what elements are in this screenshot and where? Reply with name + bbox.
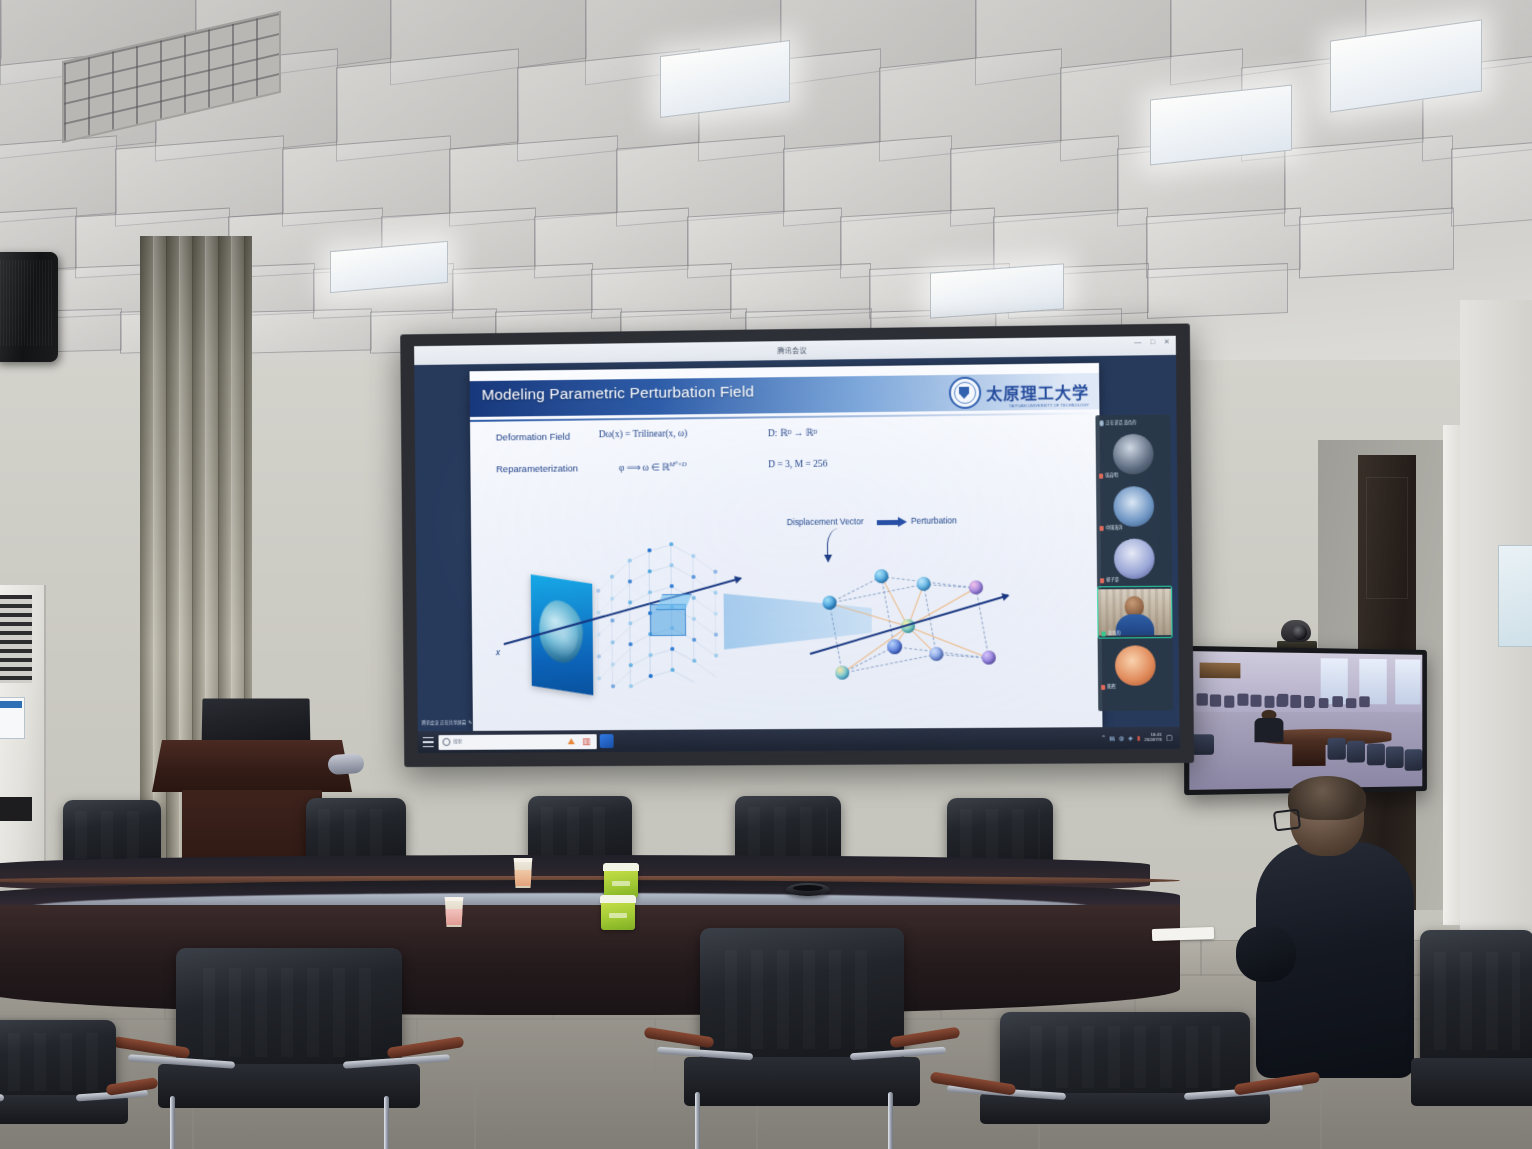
- lattice-edge: [629, 666, 630, 684]
- voxel-vertex-sphere: [822, 596, 836, 610]
- clock-date: 2024/7/3: [1144, 738, 1161, 743]
- wall-poster: [1498, 545, 1532, 647]
- chair-back: [1000, 1012, 1251, 1099]
- lattice-edge: [611, 643, 612, 662]
- lattice-edge: [692, 557, 693, 575]
- feed-audience-seat: [1251, 694, 1261, 706]
- secondary-monitor[interactable]: [1184, 646, 1427, 795]
- lattice-edge: [714, 615, 715, 633]
- feed-table-base: [1293, 742, 1326, 767]
- voxel-vertex-sphere: [929, 647, 943, 661]
- feed-audience-seat: [1224, 696, 1235, 708]
- window-controls[interactable]: — □ ✕: [1134, 339, 1170, 347]
- chair-leg: [384, 1096, 389, 1149]
- feed-chair: [1386, 746, 1404, 767]
- meeting-app-icon[interactable]: [600, 734, 614, 748]
- feed-audience-seat: [1290, 697, 1301, 708]
- screen-share-toolbar[interactable]: 腾讯会议 正在共享屏幕 ✎: [422, 720, 473, 726]
- search-icon: [442, 738, 450, 746]
- tissue-sheet: [600, 895, 636, 903]
- lattice-edge: [613, 648, 631, 665]
- legend-perturbation: Perturbation: [911, 515, 957, 525]
- lattice-edge: [597, 636, 598, 655]
- camera-body: [1281, 620, 1311, 642]
- search-input[interactable]: 搜索 ⛰ ▥: [438, 734, 596, 750]
- lattice-edge: [597, 614, 598, 633]
- voxel-vertex-sphere: [969, 580, 983, 594]
- chair-leg: [170, 1096, 175, 1149]
- video-person-body: [1116, 614, 1155, 636]
- feed-person-body: [1255, 718, 1283, 743]
- feed-audience-seat: [1237, 693, 1248, 705]
- display-screen: 腾讯会议 — □ ✕ Modeling Parametric Perturbat…: [414, 336, 1180, 753]
- chair-back: [176, 948, 402, 1072]
- conference-chair[interactable]: [668, 928, 936, 1149]
- axis-label-x: x: [496, 647, 500, 657]
- air-conditioner: [0, 585, 46, 885]
- lattice-edge: [628, 562, 629, 580]
- lattice-edge: [670, 566, 671, 584]
- maximize-button[interactable]: □: [1150, 339, 1154, 346]
- paper-cup: [512, 858, 534, 888]
- shared-slide: Modeling Parametric Perturbation Field 太…: [470, 363, 1103, 731]
- tissue-label: [609, 913, 627, 918]
- battery-icon[interactable]: ▮: [1137, 734, 1140, 741]
- chart-icon[interactable]: ▥: [582, 736, 591, 747]
- chair-seat: [684, 1057, 920, 1106]
- weather-icon[interactable]: ⛰: [567, 736, 575, 747]
- legend-displacement-vector: Displacement Vector: [787, 516, 864, 527]
- attendee-arm: [1236, 926, 1296, 982]
- lattice-edge: [611, 600, 612, 619]
- participant-avatar: [1114, 539, 1155, 580]
- tissue-label: [612, 881, 630, 886]
- lattice-edge: [612, 604, 630, 621]
- feed-audience-seat: [1276, 696, 1287, 707]
- participant-name: 蓝色的: [1108, 630, 1121, 636]
- taskbar-clock[interactable]: 16:41 2024/7/3: [1144, 733, 1161, 742]
- chevron-up-icon[interactable]: ^: [1102, 735, 1105, 741]
- cup-band: [512, 870, 534, 886]
- paper-cup: [443, 897, 465, 927]
- conference-room-photo: 腾讯会议 — □ ✕ Modeling Parametric Perturbat…: [0, 0, 1532, 1149]
- cube-edge: [842, 646, 894, 673]
- meeting-window-title: 腾讯会议: [777, 345, 807, 355]
- perturbation-field-diagram: Displacement Vector Perturbation x: [489, 512, 1091, 717]
- protein-plane: [531, 574, 594, 695]
- muted-mic-icon: [1100, 525, 1104, 530]
- tissue-sheet: [603, 863, 639, 871]
- lattice-edge: [648, 551, 649, 569]
- zoomed-voxel-cube: [811, 553, 1013, 705]
- glasses-icon: [1273, 808, 1301, 831]
- lattice-edge: [649, 565, 671, 572]
- university-name-cn: 太原理工大学: [986, 379, 1089, 404]
- voxel-vertex-sphere: [917, 577, 931, 591]
- attendee-hair: [1288, 776, 1366, 820]
- network-icon[interactable]: ▤: [1109, 735, 1115, 742]
- lattice-edge: [597, 592, 598, 611]
- volume-icon[interactable]: ◍: [1119, 735, 1124, 742]
- chair-seat: [980, 1093, 1270, 1124]
- lattice-edge: [630, 571, 650, 582]
- cube-edge: [829, 584, 923, 604]
- tissue-box: [601, 900, 635, 930]
- university-crest-icon: [949, 377, 982, 410]
- ashtray: [786, 883, 830, 896]
- feed-chair: [1405, 749, 1423, 770]
- feed-audience-seat: [1210, 694, 1221, 706]
- lattice-edge: [612, 560, 630, 577]
- lattice-edge: [672, 670, 694, 683]
- active-speaker-header: 正在讲话 蓝色的: [1095, 417, 1170, 429]
- participant-tiles[interactable]: 张启明中国海洋郭子豪蓝色的陈辉: [1096, 429, 1174, 691]
- lattice-edge: [714, 573, 715, 591]
- lattice-edge: [629, 645, 630, 663]
- participant-name-badge: 中国海洋: [1100, 525, 1123, 531]
- podium-top: [152, 740, 352, 792]
- muted-mic-icon: [1099, 473, 1103, 478]
- ceiling-tile: [1147, 263, 1288, 319]
- lattice-edge: [671, 650, 672, 668]
- ceiling-tile: [245, 308, 372, 353]
- muted-mic-icon: [1100, 578, 1104, 583]
- chair-back: [700, 928, 904, 1066]
- participant-tile[interactable]: 郭子豪: [1097, 533, 1172, 584]
- pen-icon[interactable]: ✎: [468, 720, 472, 726]
- lattice-edge: [671, 544, 693, 557]
- feed-window: [1396, 660, 1420, 705]
- close-button[interactable]: ✕: [1164, 339, 1170, 346]
- feed-audience-seat: [1304, 696, 1315, 707]
- ime-icon[interactable]: ◈: [1128, 735, 1133, 742]
- participant-name-badge: 陈辉: [1101, 684, 1116, 690]
- participant-name: 张启明: [1105, 472, 1118, 478]
- deformation-field-mapping: D: ℝᴰ → ℝᴰ: [768, 429, 817, 440]
- participant-sidebar[interactable]: 正在讲话 蓝色的 张启明中国海洋郭子豪蓝色的陈辉: [1095, 414, 1173, 711]
- lattice-edge: [670, 545, 671, 563]
- lattice-edge: [693, 641, 694, 659]
- ac-display-panel: [0, 797, 32, 821]
- main-display[interactable]: 腾讯会议 — □ ✕ Modeling Parametric Perturbat…: [400, 323, 1194, 767]
- lattice-edge: [649, 656, 650, 674]
- participant-name-badge: 蓝色的: [1102, 630, 1121, 636]
- legend-arrow-icon: [877, 520, 899, 525]
- lattice-edge: [693, 577, 716, 594]
- camera-lens-icon: [1292, 625, 1307, 640]
- lattice-edge: [611, 665, 612, 684]
- muted-mic-icon: [1101, 684, 1105, 689]
- slide-title: Modeling Parametric Perturbation Field: [482, 384, 755, 405]
- conference-chair[interactable]: [1402, 930, 1532, 1149]
- feed-audience-seat: [1332, 696, 1343, 707]
- feed-audience-seat: [1346, 698, 1356, 709]
- participant-avatar: [1113, 434, 1154, 475]
- lattice-edge: [611, 578, 612, 597]
- chair-seat: [1411, 1058, 1532, 1106]
- chair-back: [63, 800, 160, 867]
- tissue-box: [604, 868, 638, 898]
- feed-chair: [1192, 734, 1214, 755]
- podium-microphone-icon: [327, 753, 364, 775]
- lattice-edge: [629, 603, 630, 621]
- lattice-edge: [693, 619, 716, 636]
- lattice-edge: [693, 556, 716, 573]
- participant-name-badge: 郭子豪: [1100, 577, 1119, 583]
- participant-tile[interactable]: 蓝色的: [1097, 586, 1172, 639]
- participant-name: 中国海洋: [1106, 525, 1123, 531]
- reparameterization-formula: φ ⟹ ω ∈ ℝ: [619, 463, 669, 474]
- lattice-edge: [650, 649, 672, 656]
- chair-back: [1420, 930, 1532, 1066]
- ac-label: [0, 697, 25, 739]
- active-mic-icon: [1102, 631, 1106, 636]
- lattice-edge: [612, 626, 630, 643]
- cup-band: [443, 909, 465, 925]
- lattice-edge: [649, 635, 650, 653]
- system-tray[interactable]: ^ ▤ ◍ ◈ ▮ 16:41 2024/7/3 ▢: [1102, 733, 1175, 743]
- screen-share-label: 腾讯会议 正在共享屏幕: [422, 720, 467, 726]
- camera-feed-screen: [1189, 651, 1422, 790]
- lattice-edge: [693, 620, 694, 638]
- lattice-edge: [630, 634, 650, 645]
- lattice-edge: [714, 594, 715, 612]
- feed-audience-seat: [1197, 693, 1208, 706]
- lattice-edge: [672, 649, 694, 662]
- lattice-edge: [694, 661, 717, 678]
- lattice-edge: [692, 578, 693, 596]
- chair-leg: [888, 1092, 893, 1149]
- start-menu-icon[interactable]: [422, 736, 435, 749]
- windows-taskbar[interactable]: 腾讯会议 正在共享屏幕 ✎ 搜索 ⛰ ▥ ^ ▤ ◍ ◈: [418, 727, 1180, 753]
- ceiling-tile: [1451, 135, 1532, 226]
- chair-leg: [695, 1092, 700, 1149]
- participant-video: [1098, 589, 1171, 636]
- voxel-vertex-sphere: [835, 666, 849, 680]
- feed-chair: [1366, 744, 1384, 765]
- chair-seat: [0, 1095, 128, 1124]
- cube-edge: [829, 576, 881, 603]
- lattice-edge: [693, 598, 716, 615]
- cube-edge: [829, 603, 843, 673]
- ceiling-tile: [1299, 208, 1454, 279]
- participant-name-badge: 张启明: [1099, 472, 1118, 478]
- feed-audience-seat: [1360, 696, 1370, 707]
- feed-chair: [1347, 741, 1365, 762]
- lattice-edge: [650, 586, 672, 593]
- active-speaker-label: 正在讲话 蓝色的: [1106, 420, 1137, 426]
- conference-chair[interactable]: [140, 948, 438, 1148]
- lattice-edge: [612, 582, 630, 599]
- feed-audience-seat: [1318, 698, 1329, 709]
- reparameterization-label: Reparameterization: [496, 463, 578, 475]
- lattice-edge: [650, 670, 672, 677]
- participant-avatar: [1115, 645, 1156, 686]
- voxel-vertex-sphere: [982, 650, 996, 664]
- participant-tile[interactable]: 陈辉: [1098, 640, 1173, 691]
- lattice-edge: [693, 640, 716, 657]
- reparameterization-values: D = 3, M = 256: [768, 460, 827, 471]
- participant-tile[interactable]: 中国海洋: [1096, 481, 1171, 532]
- pointer-curve-arrow-icon: [827, 528, 846, 556]
- meeting-window-titlebar: 腾讯会议 — □ ✕: [414, 336, 1176, 365]
- feed-audience-seat: [1264, 696, 1274, 708]
- wall-speaker-icon: [0, 252, 58, 362]
- participant-name: 陈辉: [1107, 684, 1116, 690]
- search-placeholder: 搜索: [453, 739, 462, 745]
- lattice-node: [714, 654, 718, 658]
- conference-chair[interactable]: [0, 1020, 140, 1149]
- conference-chair[interactable]: [960, 1012, 1290, 1149]
- lattice-edge: [597, 657, 598, 676]
- lattice-edge: [630, 613, 650, 624]
- papers: [1152, 927, 1214, 941]
- lattice-edge: [611, 621, 612, 640]
- lattice-edge: [631, 676, 651, 687]
- ceiling-light-panel: [930, 263, 1064, 318]
- lattice-edge: [715, 636, 716, 654]
- lattice-edge: [692, 599, 693, 617]
- lattice-edge: [629, 582, 630, 600]
- notification-icon[interactable]: ▢: [1166, 734, 1173, 742]
- voxel-vertex-sphere: [874, 569, 888, 583]
- deformation-field-formula: Dω(x) = Trilinear(x, ω): [599, 429, 688, 440]
- reparameterization-exponent: Mᴰ×D: [669, 461, 687, 468]
- participant-tile[interactable]: 张启明: [1096, 429, 1171, 480]
- feed-chair: [1328, 738, 1346, 760]
- ac-grille-icon: [0, 595, 32, 683]
- lattice-edge: [630, 592, 650, 603]
- voxel-vertex-sphere: [887, 639, 902, 654]
- participant-avatar: [1113, 486, 1154, 527]
- cube-edge: [975, 588, 989, 658]
- feed-wall-plaque: [1199, 662, 1240, 678]
- minimize-button[interactable]: —: [1134, 339, 1141, 346]
- chair-back: [0, 1020, 116, 1101]
- lattice-edge: [649, 544, 671, 551]
- lattice-edge: [671, 565, 693, 578]
- mic-icon: [1100, 420, 1104, 426]
- lattice-edge: [630, 550, 650, 561]
- podium-monitor[interactable]: [202, 699, 311, 746]
- slide-canvas: Modeling Parametric Perturbation Field 太…: [470, 363, 1103, 731]
- lattice-edge: [631, 655, 651, 666]
- chair-seat: [158, 1064, 420, 1108]
- participant-name: 郭子豪: [1106, 577, 1119, 583]
- lattice-edge: [648, 572, 649, 590]
- lattice-edge: [629, 624, 630, 642]
- deformation-field-label: Deformation Field: [496, 432, 570, 444]
